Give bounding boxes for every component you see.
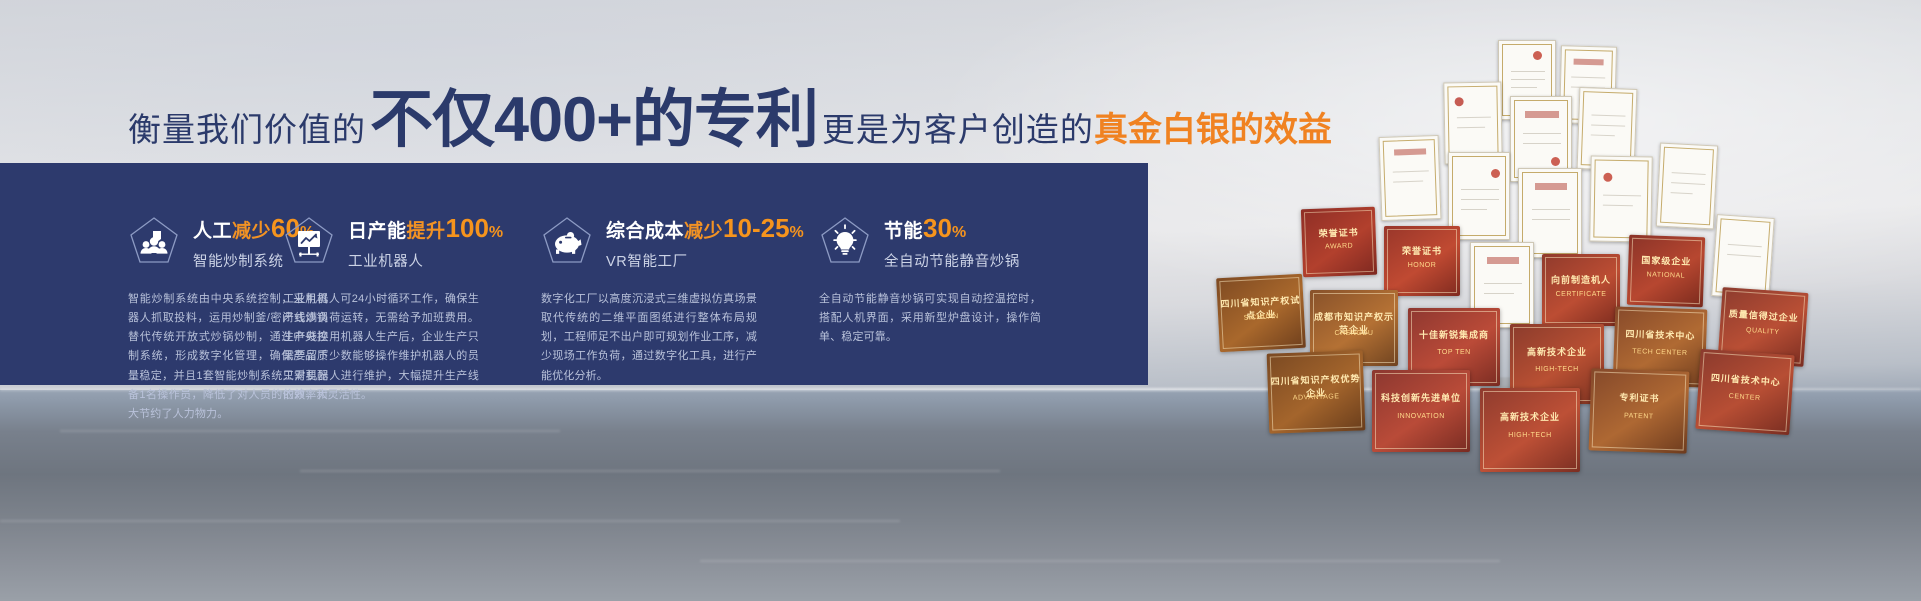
award-plaque: 四川省技术中心CENTER <box>1695 349 1794 435</box>
feature-title-accent: 减少 <box>684 221 723 242</box>
headline-prefix: 衡量我们价值的 <box>128 113 366 150</box>
feature-subtitle: 全自动节能静音炒锅 <box>884 250 1020 271</box>
feature-title: 节能30% <box>884 215 1020 243</box>
water-streak <box>60 430 560 432</box>
certificate-document <box>1711 214 1775 300</box>
award-plaque: 专利证书PATENT <box>1589 368 1690 453</box>
feature-title-main: 人工 <box>193 221 232 242</box>
award-plaque: 国家级企业NATIONAL <box>1627 235 1705 308</box>
feature-header: 日产能提升100% 工业机器人 <box>283 213 526 271</box>
water-streak <box>0 520 900 522</box>
feature-title-accent: 提升 <box>407 221 446 242</box>
feature-title: 综合成本减少10-25% <box>606 215 804 243</box>
feature-header: 人工减少60% 智能炒制系统 <box>128 213 268 271</box>
feature-subtitle: VR智能工厂 <box>606 250 804 271</box>
feature-title-percent: % <box>790 224 804 241</box>
feature-description: 全自动节能静音炒锅可实现自动控温控时，搭配人机界面，采用新型炉盘设计，操作简单、… <box>819 290 1041 348</box>
feature-list: 人工减少60% 智能炒制系统 智能炒制系统由中央系统控制，采用机器人抓取投料，运… <box>0 163 1148 385</box>
feature-panel: 人工减少60% 智能炒制系统 智能炒制系统由中央系统控制，采用机器人抓取投料，运… <box>0 163 1148 385</box>
feature-item-cost-reduction[interactable]: 综合成本减少10-25% VR智能工厂 数字化工厂以高度沉浸式三维虚拟仿真场景取… <box>526 213 804 385</box>
piggy-bank-icon <box>541 215 593 267</box>
award-plaque: 荣誉证书HONOR <box>1384 226 1460 296</box>
feature-title-percent: % <box>952 224 966 241</box>
feature-title-percent: % <box>489 224 503 241</box>
lightbulb-icon <box>819 215 871 267</box>
certificate-document <box>1656 143 1718 230</box>
chart-easel-icon <box>283 215 335 267</box>
award-plaque: 四川省知识产权试点企业SICHUAN <box>1216 274 1306 352</box>
feature-subtitle: 工业机器人 <box>348 250 503 271</box>
feature-titles: 日产能提升100% 工业机器人 <box>348 213 503 271</box>
award-plaque: 高新技术企业HIGH-TECH <box>1480 388 1580 472</box>
feature-item-labor-reduction[interactable]: 人工减少60% 智能炒制系统 智能炒制系统由中央系统控制，采用机器人抓取投料，运… <box>0 213 268 385</box>
feature-header: 综合成本减少10-25% VR智能工厂 <box>541 213 804 271</box>
headline-middle: 更是为客户创造的 <box>822 113 1094 150</box>
banner-headline: 衡量我们价值的 不仅400+的专利 更是为客户创造的 真金白银的效益 <box>0 60 1400 150</box>
feature-title-main: 日产能 <box>348 221 407 242</box>
feature-title-number: 10-25 <box>723 213 790 243</box>
award-plaque: 科技创新先进单位INNOVATION <box>1372 370 1470 452</box>
award-plaque: 四川省知识产权优势企业ADVANTAGE <box>1267 350 1366 433</box>
feature-title: 日产能提升100% <box>348 215 503 243</box>
feature-item-energy-saving[interactable]: 节能30% 全自动节能静音炒锅 全自动节能静音炒锅可实现自动控温控时，搭配人机界… <box>804 213 1104 385</box>
people-group-icon <box>128 215 180 267</box>
feature-description: 工业机器人可24小时循环工作，确保生产线满负荷运转，无需给予加班费用。生产线换用… <box>283 290 479 406</box>
feature-titles: 节能30% 全自动节能静音炒锅 <box>884 213 1020 271</box>
water-streak <box>700 560 1500 562</box>
feature-header: 节能30% 全自动节能静音炒锅 <box>819 213 1104 271</box>
feature-description: 数字化工厂以高度沉浸式三维虚拟仿真场景取代传统的二维平面图纸进行整体布局规划，工… <box>541 290 757 386</box>
feature-title-main: 节能 <box>884 221 923 242</box>
feature-title-main: 综合成本 <box>606 221 684 242</box>
headline-emphasis: 不仅400+的专利 <box>366 92 822 150</box>
feature-title-accent: 减少 <box>232 221 271 242</box>
certificate-document <box>1589 155 1652 242</box>
feature-item-daily-capacity[interactable]: 日产能提升100% 工业机器人 工业机器人可24小时循环工作，确保生产线满负荷运… <box>268 213 526 385</box>
award-plaque: 向前制造机人CERTIFICATE <box>1542 254 1620 326</box>
feature-title-number: 30 <box>923 213 952 243</box>
feature-title-number: 100 <box>446 213 489 243</box>
feature-titles: 综合成本减少10-25% VR智能工厂 <box>606 213 804 271</box>
headline-highlight: 真金白银的效益 <box>1094 113 1332 150</box>
water-streak <box>300 470 1000 472</box>
award-plaque: 荣誉证书AWARD <box>1301 207 1377 278</box>
